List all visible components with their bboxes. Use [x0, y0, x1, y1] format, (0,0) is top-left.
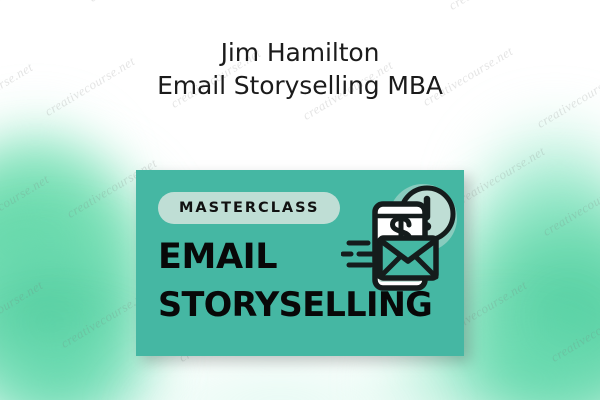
- page-title: Jim Hamilton Email Storyselling MBA: [0, 36, 600, 102]
- masterclass-badge-label: MASTERCLASS: [179, 201, 319, 216]
- course-card[interactable]: MASTERCLASS EMAIL STORYSELLING: [136, 170, 464, 356]
- course-title: Email Storyselling MBA: [0, 69, 600, 102]
- watermark-text: creativecourse.net: [548, 299, 600, 365]
- watercolor-blob-left-lower: [0, 236, 157, 400]
- watermark-text: creativecourse.net: [0, 171, 52, 237]
- watercolor-blob-left-bottom: [0, 326, 155, 400]
- phone-envelope-money-alert-icon: [341, 178, 461, 296]
- watercolor-blob-right-upper: [470, 120, 600, 285]
- watercolor-blob-bottom: [120, 368, 440, 400]
- watermark-text: creativecourse.net: [0, 0, 60, 22]
- watermark-text: creativecourse.net: [446, 0, 542, 14]
- watermark-text: creativecourse.net: [540, 173, 600, 239]
- masterclass-badge: MASTERCLASS: [158, 192, 340, 224]
- watermark-text: creativecourse.net: [86, 0, 182, 6]
- watermark-text: creativecourse.net: [0, 277, 46, 343]
- author-name: Jim Hamilton: [0, 36, 600, 69]
- watercolor-blob-left-upper: [0, 118, 110, 246]
- envelope-icon: [380, 238, 436, 278]
- speed-lines-icon: [343, 243, 375, 265]
- product-hero-page: creativecourse.net creativecourse.net cr…: [0, 0, 600, 400]
